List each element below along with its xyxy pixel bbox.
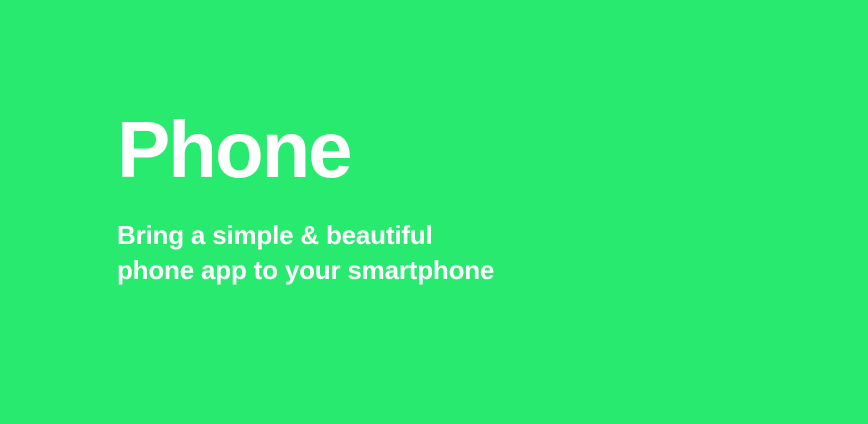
banner-subtitle-line-2: phone app to your smartphone [117, 253, 777, 288]
banner-subtitle: Bring a simple & beautiful phone app to … [117, 196, 777, 288]
banner-subtitle-line-1: Bring a simple & beautiful [117, 218, 777, 253]
banner-text-block: Phone Bring a simple & beautiful phone a… [117, 104, 777, 288]
promo-banner: Phone Bring a simple & beautiful phone a… [0, 0, 868, 424]
page-title: Phone [117, 104, 777, 196]
